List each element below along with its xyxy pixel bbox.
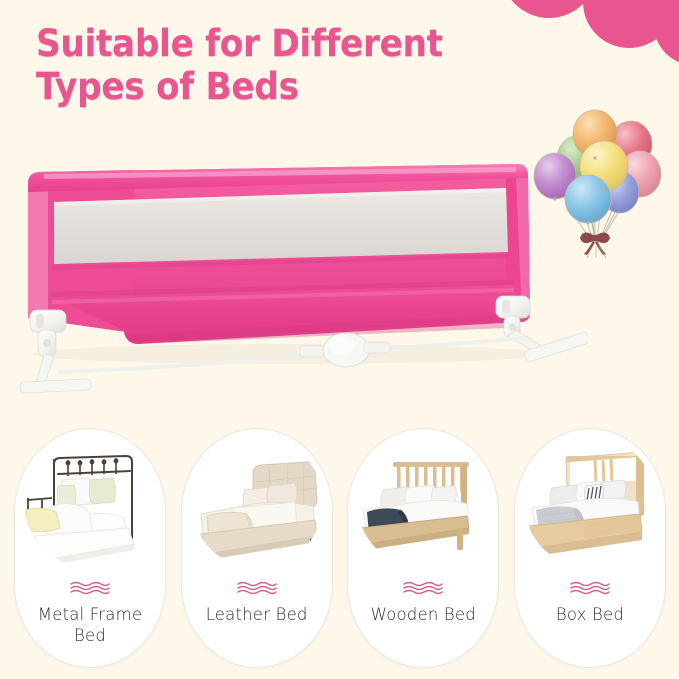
bed-type-card-metal-frame-bed[interactable]: Metal Frame Bed	[14, 428, 166, 668]
bed-type-label: Wooden Bed	[356, 604, 490, 625]
wooden-bed-photo	[357, 436, 489, 568]
page-title-line1: Suitable for Different	[36, 22, 443, 65]
wavy-divider-icon	[402, 580, 444, 596]
page-title-line2: Types of Beds	[36, 65, 482, 108]
bed-type-card-wooden-bed[interactable]: Wooden Bed	[347, 428, 499, 668]
page-title: Suitable for Different Types of Beds	[36, 22, 482, 109]
bed-type-label: Metal Frame Bed	[23, 604, 157, 646]
infographic-canvas: Suitable for Different Types of Beds	[0, 0, 679, 679]
bed-type-label: Leather Bed	[190, 604, 324, 625]
wavy-divider-icon	[236, 580, 278, 596]
box-bed-photo	[524, 436, 656, 568]
wavy-divider-icon	[569, 580, 611, 596]
bed-type-card-box-bed[interactable]: Box Bed	[514, 428, 666, 668]
bed-rail-guard	[8, 158, 588, 398]
bed-type-card-leather-bed[interactable]: Leather Bed	[181, 428, 333, 668]
pink-cloud-blob	[479, 0, 679, 80]
bed-type-label: Box Bed	[523, 604, 657, 625]
wavy-divider-icon	[69, 580, 111, 596]
leather-bed-photo	[191, 436, 323, 568]
bed-type-card-row: Metal Frame Bed	[14, 428, 666, 668]
metal-frame-bed-photo	[24, 436, 156, 568]
